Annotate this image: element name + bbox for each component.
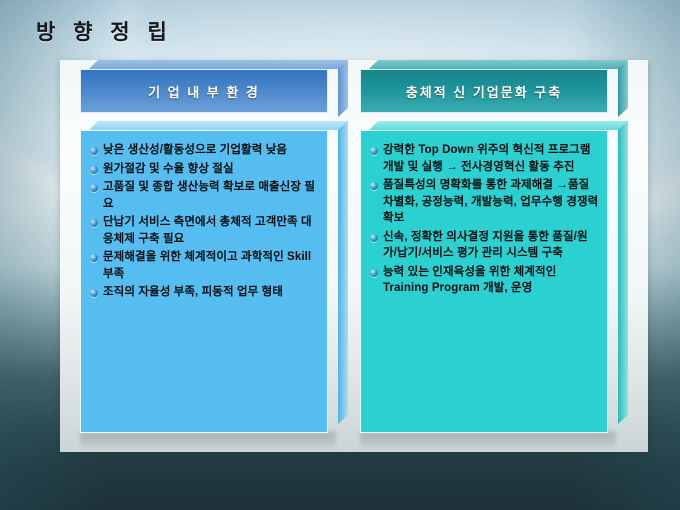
right-header-side-bevel xyxy=(618,60,628,117)
left-header-face: 기 업 내 부 환 경 xyxy=(80,69,328,113)
list-item: 강력한 Top Down 위주의 혁신적 프로그램 개발 및 실행 → 전사경영… xyxy=(370,142,600,175)
bullet-dot-icon xyxy=(370,234,378,242)
right-header-face: 충체적 신 기업문화 구축 xyxy=(360,69,608,113)
column-internal-environment: 기 업 내 부 환 경 낮은 생산성/활동성으로 기업활력 낮음 원가절감 및 … xyxy=(80,60,348,433)
bullet-dot-icon xyxy=(370,182,378,190)
column-new-culture: 충체적 신 기업문화 구축 강력한 Top Down 위주의 혁신적 프로그램 … xyxy=(360,60,628,433)
bullet-dot-icon xyxy=(90,147,98,155)
left-body-side-bevel xyxy=(338,121,348,424)
list-item: 능력 있는 인재육성을 위한 체계적인 Training Program 개발,… xyxy=(370,264,600,297)
list-item: 고품질 및 종합 생산능력 확보로 매출신장 필요 xyxy=(90,179,320,212)
list-item-text: 품질특성의 명확화를 통한 과제해결 →품질차별화, 공정능력, 개발능력, 업… xyxy=(383,177,600,227)
list-item-text: 문제해결을 위한 체계적이고 과학적인 Skill 부족 xyxy=(103,249,320,282)
list-item: 낮은 생산성/활동성으로 기업활력 낮음 xyxy=(90,142,320,159)
left-body-block: 낮은 생산성/활동성으로 기업활력 낮음 원가절감 및 수율 향상 절실 고품질… xyxy=(80,121,348,433)
slide-canvas: 방 향 정 립 기 업 내 부 환 경 낮은 생산성/활동성으로 기업활력 낮음 xyxy=(0,0,680,510)
list-item-text: 단납기 서비스 측면에서 총체적 고객만족 대응체제 구축 필요 xyxy=(103,214,320,247)
left-header-label: 기 업 내 부 환 경 xyxy=(148,82,260,101)
right-header-top-bevel xyxy=(369,60,628,69)
list-item: 신속, 정확한 의사결정 지원을 통한 품질/원가/납기/서비스 평가 관리 시… xyxy=(370,229,600,262)
list-item-text: 원가절감 및 수율 향상 절실 xyxy=(103,161,234,178)
bullet-dot-icon xyxy=(370,269,378,277)
right-body-block: 강력한 Top Down 위주의 혁신적 프로그램 개발 및 실행 → 전사경영… xyxy=(360,121,628,433)
list-item-text: 조직의 자율성 부족, 피동적 업무 형태 xyxy=(103,284,283,301)
right-body-top-bevel xyxy=(369,121,628,130)
list-item: 문제해결을 위한 체계적이고 과학적인 Skill 부족 xyxy=(90,249,320,282)
right-body-side-bevel xyxy=(618,121,628,424)
content-panel: 기 업 내 부 환 경 낮은 생산성/활동성으로 기업활력 낮음 원가절감 및 … xyxy=(60,60,648,452)
list-item: 조직의 자율성 부족, 피동적 업무 형태 xyxy=(90,284,320,301)
right-header-block: 충체적 신 기업문화 구축 xyxy=(360,60,628,118)
left-body-face: 낮은 생산성/활동성으로 기업활력 낮음 원가절감 및 수율 향상 절실 고품질… xyxy=(80,130,328,433)
list-item: 품질특성의 명확화를 통한 과제해결 →품질차별화, 공정능력, 개발능력, 업… xyxy=(370,177,600,227)
list-item: 단납기 서비스 측면에서 총체적 고객만족 대응체제 구축 필요 xyxy=(90,214,320,247)
bullet-dot-icon xyxy=(90,166,98,174)
left-header-side-bevel xyxy=(338,60,348,117)
right-box-shadow xyxy=(360,432,616,448)
bullet-dot-icon xyxy=(90,219,98,227)
list-item-text: 강력한 Top Down 위주의 혁신적 프로그램 개발 및 실행 → 전사경영… xyxy=(383,142,600,175)
list-item-text: 고품질 및 종합 생산능력 확보로 매출신장 필요 xyxy=(103,179,320,212)
list-item-text: 신속, 정확한 의사결정 지원을 통한 품질/원가/납기/서비스 평가 관리 시… xyxy=(383,229,600,262)
list-item-text: 낮은 생산성/활동성으로 기업활력 낮음 xyxy=(103,142,287,159)
right-body-face: 강력한 Top Down 위주의 혁신적 프로그램 개발 및 실행 → 전사경영… xyxy=(360,130,608,433)
left-header-top-bevel xyxy=(89,60,348,69)
bullet-dot-icon xyxy=(90,254,98,262)
list-item: 원가절감 및 수율 향상 절실 xyxy=(90,161,320,178)
left-box-shadow xyxy=(80,432,336,448)
left-body-top-bevel xyxy=(89,121,348,130)
page-title: 방 향 정 립 xyxy=(36,16,173,46)
bullet-dot-icon xyxy=(90,184,98,192)
bullet-dot-icon xyxy=(90,289,98,297)
bullet-dot-icon xyxy=(370,147,378,155)
list-item-text: 능력 있는 인재육성을 위한 체계적인 Training Program 개발,… xyxy=(383,264,600,297)
right-header-label: 충체적 신 기업문화 구축 xyxy=(406,82,562,101)
left-header-block: 기 업 내 부 환 경 xyxy=(80,60,348,118)
